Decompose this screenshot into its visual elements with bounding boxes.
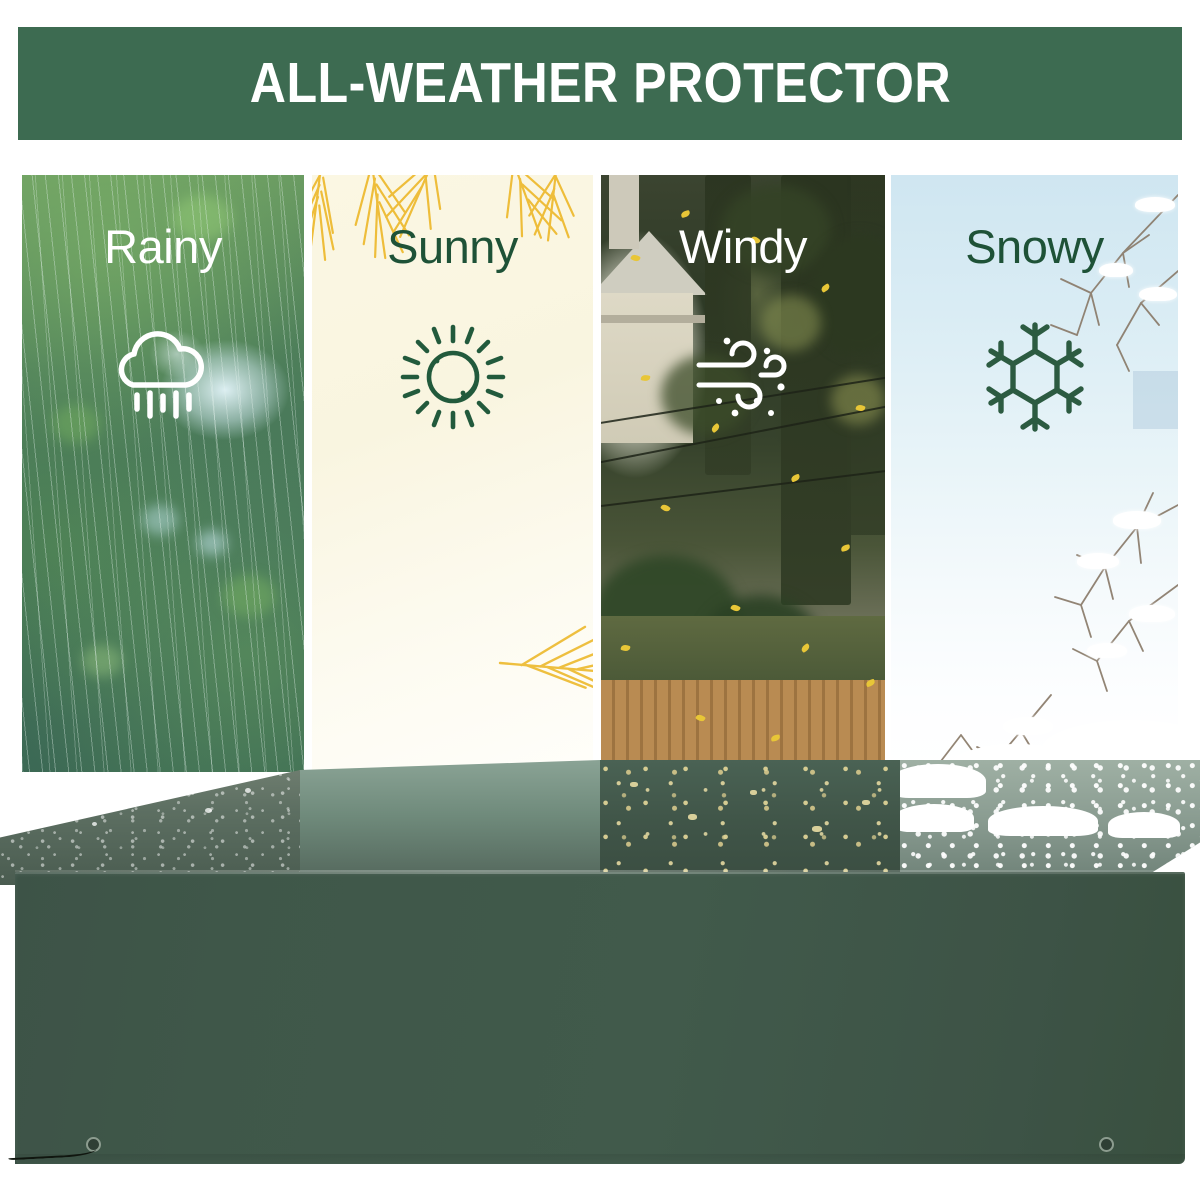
page-title: ALL-WEATHER PROTECTOR bbox=[249, 55, 950, 112]
snow-on-branch bbox=[1135, 197, 1175, 212]
weather-panel-rainy: Rainy bbox=[22, 175, 304, 772]
snow-on-branch bbox=[1077, 553, 1119, 569]
cover-top-surface bbox=[0, 760, 1200, 885]
product-feature-graphic: ALL-WEATHER PROTECTOR Rainy bbox=[0, 0, 1200, 1200]
wind-icon bbox=[683, 317, 803, 437]
weather-panel-strip: Rainy bbox=[0, 175, 1200, 772]
cover-top-zone-sunny bbox=[300, 760, 600, 885]
snow-on-branch bbox=[1139, 287, 1177, 301]
wooden-fence bbox=[601, 680, 885, 772]
weather-label-snowy: Snowy bbox=[891, 223, 1178, 270]
cover-top-zone-rainy bbox=[0, 760, 300, 885]
header-banner: ALL-WEATHER PROTECTOR bbox=[18, 27, 1182, 140]
weather-panel-sunny: Sunny bbox=[312, 175, 593, 772]
cover-hem bbox=[15, 1154, 1185, 1164]
weather-label-windy: Windy bbox=[601, 223, 885, 270]
sun-icon bbox=[393, 317, 513, 437]
cover-top-edge-highlight bbox=[15, 870, 1185, 874]
cover-top-zone-snowy bbox=[900, 760, 1200, 885]
snowflake-icon bbox=[975, 317, 1095, 437]
outdoor-furniture-cover bbox=[0, 760, 1200, 1200]
snow-on-branch bbox=[1003, 717, 1053, 735]
snow-on-branch bbox=[1087, 643, 1127, 658]
weather-label-rainy: Rainy bbox=[22, 223, 304, 270]
weather-panel-windy: Windy bbox=[601, 175, 885, 772]
cover-front-face bbox=[15, 872, 1185, 1164]
weather-panel-snowy: Snowy bbox=[891, 175, 1178, 772]
grommet bbox=[1099, 1137, 1114, 1152]
cover-top-zone-windy bbox=[600, 760, 900, 885]
background-structure bbox=[1133, 371, 1178, 429]
lawn bbox=[601, 616, 885, 680]
snow-on-branch bbox=[1129, 605, 1175, 622]
cloud-rain-icon bbox=[103, 317, 223, 437]
weather-label-sunny: Sunny bbox=[312, 223, 593, 270]
snow-on-branch bbox=[1113, 511, 1161, 529]
